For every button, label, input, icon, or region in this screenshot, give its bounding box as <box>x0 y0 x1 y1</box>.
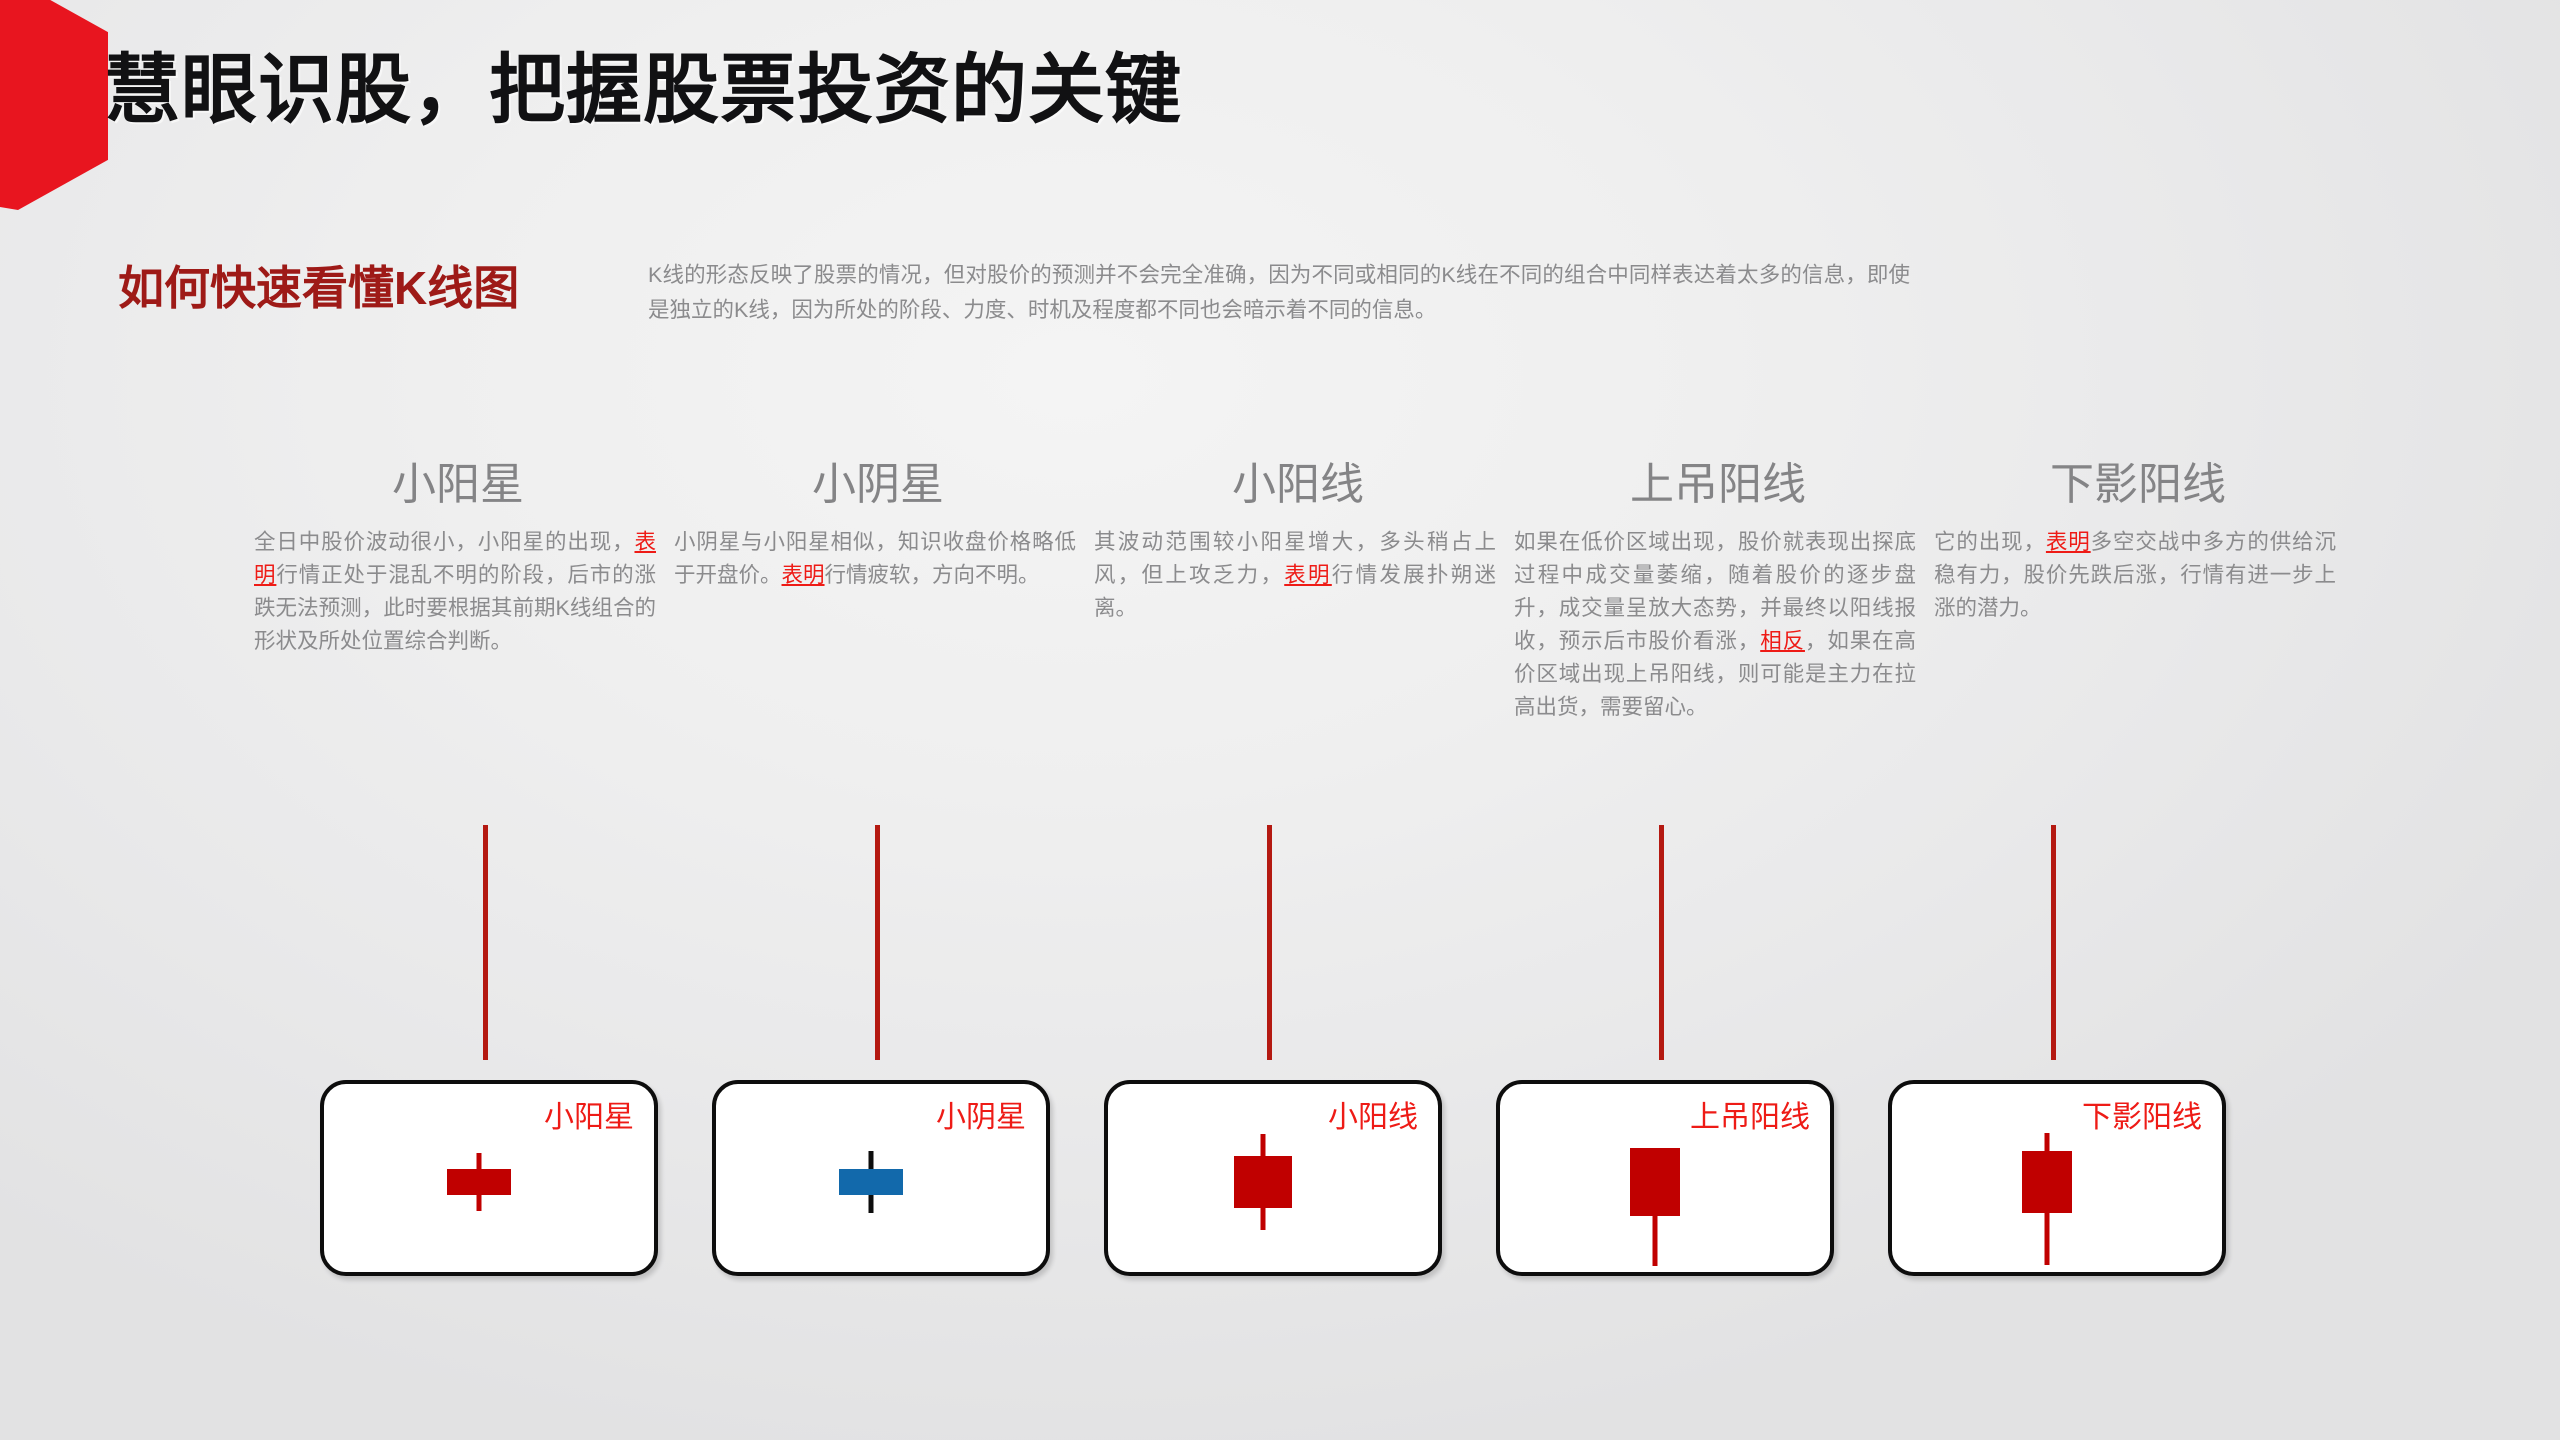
description-text-post: 行情疲软，方向不明。 <box>825 563 1040 587</box>
connector-stem <box>1659 825 1664 1060</box>
connector-stem <box>2051 825 2056 1060</box>
candle-card: 小阳线 <box>1104 1080 1442 1276</box>
pattern-column: 小阳线其波动范围较小阳星增大，多头稍占上风，但上攻乏力，表明行情发展扑朔迷离。 <box>1088 462 1508 625</box>
description-highlight: 表明 <box>2046 530 2091 554</box>
lower-wick <box>2045 1209 2050 1265</box>
pattern-description: 小阴星与小阳星相似，知识收盘价格略低于开盘价。表明行情疲软，方向不明。 <box>668 526 1088 592</box>
pattern-column: 上吊阳线如果在低价区域出现，股价就表现出探底过程中成交量萎缩，随着股价的逐步盘升… <box>1508 462 1928 724</box>
pattern-column: 小阴星小阴星与小阳星相似，知识收盘价格略低于开盘价。表明行情疲软，方向不明。 <box>668 462 1088 592</box>
candle-body <box>2022 1151 2072 1213</box>
candle-body <box>447 1169 511 1195</box>
pattern-heading: 小阴星 <box>668 462 1088 508</box>
pattern-description: 其波动范围较小阳星增大，多头稍占上风，但上攻乏力，表明行情发展扑朔迷离。 <box>1088 526 1508 625</box>
candle-card: 小阴星 <box>712 1080 1050 1276</box>
connector-stem <box>483 825 488 1060</box>
section-subtitle: 如何快速看懂K线图 <box>118 252 519 318</box>
intro-paragraph: K线的形态反映了股票的情况，但对股价的预测并不会完全准确，因为不同或相同的K线在… <box>648 258 1910 328</box>
description-highlight: 表明 <box>1284 563 1332 587</box>
candle-card: 下影阳线 <box>1888 1080 2226 1276</box>
connector-stem <box>1267 825 1272 1060</box>
pattern-description: 全日中股价波动很小，小阳星的出现，表明行情正处于混乱不明的阶段，后市的涨跌无法预… <box>248 526 668 658</box>
description-text-pre: 全日中股价波动很小，小阳星的出现， <box>254 530 634 554</box>
candlestick-figure <box>1892 1084 2222 1272</box>
pattern-heading: 小阳线 <box>1088 462 1508 508</box>
description-text-pre: 它的出现， <box>1934 530 2046 554</box>
candle-body <box>839 1169 903 1195</box>
candle-body <box>1630 1148 1680 1216</box>
description-highlight: 相反 <box>1760 629 1805 653</box>
pattern-heading: 下影阳线 <box>1928 462 2348 508</box>
description-highlight: 表明 <box>782 563 825 587</box>
decorative-corner-shape <box>0 0 108 210</box>
page-title: 慧眼识股，把握股票投资的关键 <box>104 28 1182 138</box>
pattern-heading: 小阳星 <box>248 462 668 508</box>
pattern-columns: 小阳星全日中股价波动很小，小阳星的出现，表明行情正处于混乱不明的阶段，后市的涨跌… <box>248 462 2358 922</box>
pattern-column: 小阳星全日中股价波动很小，小阳星的出现，表明行情正处于混乱不明的阶段，后市的涨跌… <box>248 462 668 658</box>
candlestick-figure <box>716 1084 1046 1272</box>
connector-stem <box>875 825 880 1060</box>
pattern-column: 下影阳线它的出现，表明多空交战中多方的供给沉稳有力，股价先跌后涨，行情有进一步上… <box>1928 462 2348 625</box>
lower-wick <box>1653 1212 1658 1266</box>
candlestick-figure <box>1500 1084 1830 1272</box>
candlestick-figure <box>1108 1084 1438 1272</box>
candle-card: 上吊阳线 <box>1496 1080 1834 1276</box>
pattern-description: 如果在低价区域出现，股价就表现出探底过程中成交量萎缩，随着股价的逐步盘升，成交量… <box>1508 526 1928 724</box>
description-text-post: 行情正处于混乱不明的阶段，后市的涨跌无法预测，此时要根据其前期K线组合的形状及所… <box>254 563 656 653</box>
candle-body <box>1234 1156 1292 1208</box>
candlestick-figure <box>324 1084 654 1272</box>
pattern-description: 它的出现，表明多空交战中多方的供给沉稳有力，股价先跌后涨，行情有进一步上涨的潜力… <box>1928 526 2348 625</box>
candle-card: 小阳星 <box>320 1080 658 1276</box>
pattern-heading: 上吊阳线 <box>1508 462 1928 508</box>
